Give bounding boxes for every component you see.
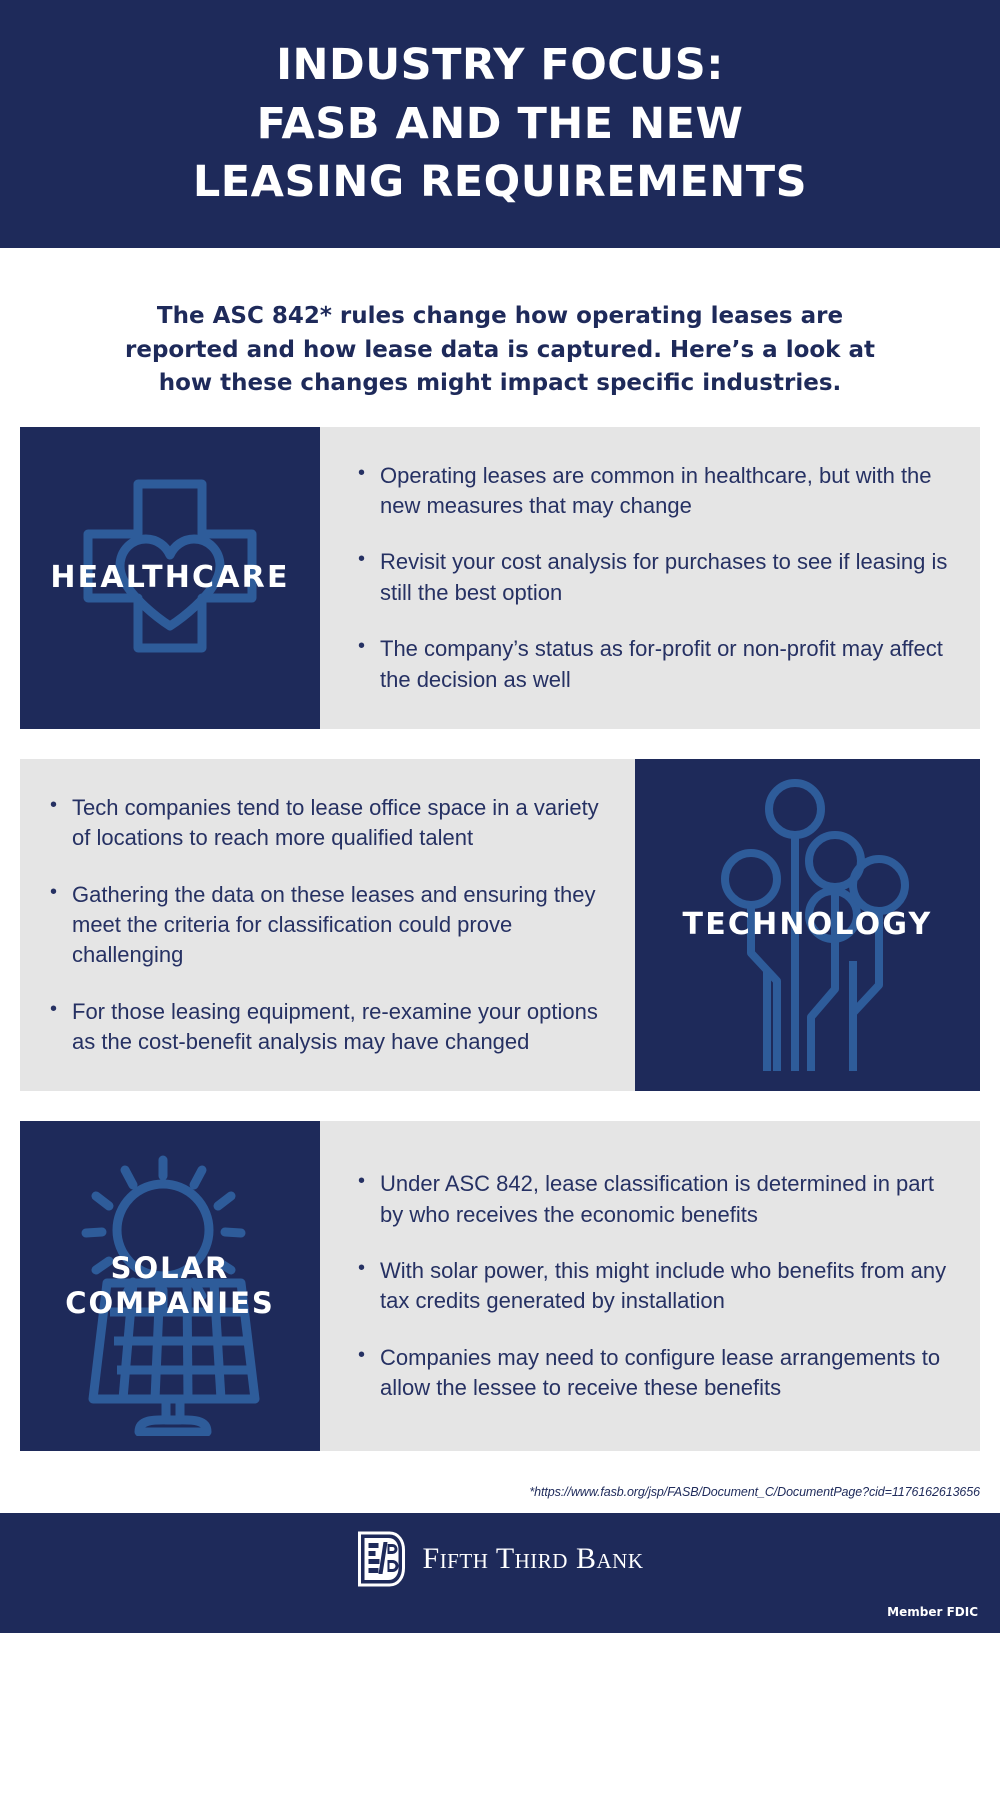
technology-label: TECHNOLOGY — [635, 907, 980, 944]
solar-bullets-panel: Under ASC 842, lease classification is d… — [320, 1121, 980, 1451]
list-item: Companies may need to configure lease ar… — [358, 1343, 950, 1404]
page-title-line-3: LEASING REQUIREMENTS — [193, 153, 807, 211]
list-item: Operating leases are common in healthcar… — [358, 461, 950, 522]
intro-paragraph: The ASC 842* rules change how operating … — [100, 300, 900, 401]
footnote: *https://www.fasb.org/jsp/FASB/Document_… — [0, 1481, 1000, 1513]
list-item: The company’s status as for-profit or no… — [358, 634, 950, 695]
solar-icon-panel: SOLAR COMPANIES — [20, 1121, 320, 1451]
page-footer: Fifth Third Bank Member FDIC — [0, 1513, 1000, 1633]
solar-label: SOLAR COMPANIES — [20, 1251, 320, 1322]
solar-label-line-1: SOLAR — [111, 1251, 230, 1285]
fifth-third-bank-logo — [357, 1530, 407, 1588]
technology-bullet-list: Tech companies tend to lease office spac… — [50, 793, 611, 1058]
intro-block: The ASC 842* rules change how operating … — [0, 248, 1000, 427]
list-item: Gathering the data on these leases and e… — [50, 880, 611, 971]
page-header: INDUSTRY FOCUS: FASB AND THE NEW LEASING… — [0, 0, 1000, 248]
brand-name: Fifth Third Bank — [423, 1542, 644, 1576]
healthcare-bullet-list: Operating leases are common in healthcar… — [358, 461, 950, 695]
page-title: INDUSTRY FOCUS: FASB AND THE NEW LEASING… — [193, 36, 807, 211]
list-item: Tech companies tend to lease office spac… — [50, 793, 611, 854]
industry-sections: HEALTHCARE Operating leases are common i… — [0, 427, 1000, 1452]
section-technology: Tech companies tend to lease office spac… — [20, 759, 980, 1092]
technology-bullets-panel: Tech companies tend to lease office spac… — [20, 759, 635, 1092]
page-title-line-2: FASB AND THE NEW — [193, 95, 807, 153]
list-item: With solar power, this might include who… — [358, 1256, 950, 1317]
healthcare-icon-panel: HEALTHCARE — [20, 427, 320, 729]
member-fdic-text: Member FDIC — [887, 1605, 978, 1619]
list-item: Under ASC 842, lease classification is d… — [358, 1169, 950, 1230]
solar-label-line-2: COMPANIES — [65, 1286, 275, 1320]
healthcare-bullets-panel: Operating leases are common in healthcar… — [320, 427, 980, 729]
healthcare-label: HEALTHCARE — [20, 560, 320, 597]
section-healthcare: HEALTHCARE Operating leases are common i… — [20, 427, 980, 729]
page-title-line-1: INDUSTRY FOCUS: — [193, 36, 807, 94]
list-item: For those leasing equipment, re-examine … — [50, 997, 611, 1058]
technology-icon-panel: TECHNOLOGY — [635, 759, 980, 1092]
solar-bullet-list: Under ASC 842, lease classification is d… — [358, 1169, 950, 1403]
list-item: Revisit your cost analysis for purchases… — [358, 547, 950, 608]
footer-brand: Fifth Third Bank — [357, 1530, 644, 1588]
section-solar: SOLAR COMPANIES Under ASC 842, lease cla… — [20, 1121, 980, 1451]
